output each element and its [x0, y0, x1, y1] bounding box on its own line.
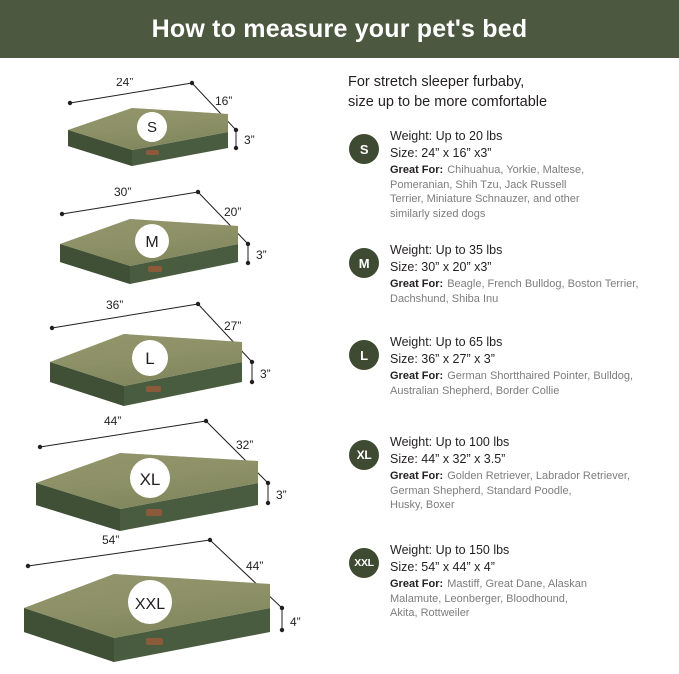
breed-line: Dachshund, Shiba Inu	[390, 292, 675, 307]
size-info-column: For stretch sleeper furbaby, size up to …	[340, 58, 679, 674]
size-badge-s: S	[349, 134, 379, 164]
brand-tag	[146, 638, 163, 645]
size-value: 30” x 20” x3”	[421, 260, 491, 274]
weight-label: Weight:	[390, 243, 432, 257]
dim-dot	[234, 146, 238, 150]
dim-dot	[26, 564, 30, 568]
dim-dot	[280, 628, 284, 632]
size-label: Size:	[390, 352, 418, 366]
size-badge-l: L	[349, 340, 379, 370]
weight-line: Weight: Up to 35 lbs	[390, 242, 675, 259]
dim-dot	[68, 101, 72, 105]
brand-tag	[146, 509, 162, 516]
great-for-line: Great For: Golden Retriever, Labrador Re…	[390, 469, 675, 513]
dim-label-width: 36”	[106, 298, 123, 312]
weight-line: Weight: Up to 20 lbs	[390, 128, 675, 145]
dim-label-height: 3”	[244, 133, 255, 147]
brand-tag	[148, 266, 162, 272]
size-line: Size: 36” x 27” x 3”	[390, 351, 675, 368]
size-label: Size:	[390, 452, 418, 466]
dim-dot	[246, 261, 250, 265]
bed-diagram-column: 24” 16” 3” S	[0, 58, 340, 674]
breed-line: Akita, Rottweiler	[390, 606, 675, 621]
bed-diagram-s: 24” 16” 3” S	[60, 78, 290, 173]
dim-dot	[266, 501, 270, 505]
weight-value: Up to 20 lbs	[436, 129, 503, 143]
great-for-line: Great For: German Shortthaired Pointer, …	[390, 369, 675, 398]
breed-line: Pomeranian, Shih Tzu, Jack Russell	[390, 178, 675, 193]
dim-label-width: 30”	[114, 186, 131, 199]
great-for-line: Great For: Beagle, French Bulldog, Bosto…	[390, 277, 675, 306]
brand-tag	[146, 386, 161, 392]
size-circle-letter: XL	[140, 470, 161, 489]
size-circle-letter: M	[145, 234, 158, 251]
dim-dot	[38, 445, 42, 449]
weight-value: Up to 65 lbs	[436, 335, 503, 349]
size-entry-text: Weight: Up to 35 lbs Size: 30” x 20” x3”…	[390, 242, 675, 306]
size-circle-letter: S	[147, 119, 157, 136]
dim-label-height: 3”	[256, 248, 267, 262]
size-line: Size: 44” x 32” x 3.5”	[390, 451, 675, 468]
breed-line: Terrier, Miniature Schnauzer, and other	[390, 192, 675, 207]
intro-line-1: For stretch sleeper furbaby,	[348, 72, 668, 92]
weight-value: Up to 35 lbs	[436, 243, 503, 257]
intro-line-2: size up to be more comfortable	[348, 92, 668, 112]
page-title: How to measure your pet's bed	[152, 15, 528, 44]
dim-label-height: 3”	[276, 488, 287, 502]
size-circle-letter: XXL	[135, 596, 165, 613]
great-for-label: Great For:	[390, 277, 443, 292]
content-area: 24” 16” 3” S	[0, 58, 679, 674]
bed-illustration-xxl: 54” 44” 4” XXL	[14, 530, 326, 670]
dim-label-height: 3”	[260, 367, 271, 381]
size-label: Size:	[390, 560, 418, 574]
size-label: Size:	[390, 146, 418, 160]
bed-diagram-m: 30” 20” 3” M	[52, 186, 297, 291]
size-badge-m: M	[349, 248, 379, 278]
dim-dot	[50, 326, 54, 330]
great-for-line: Great For: Chihuahua, Yorkie, Maltese, P…	[390, 163, 675, 221]
weight-label: Weight:	[390, 129, 432, 143]
dim-label-depth: 20”	[224, 205, 241, 219]
size-circle-letter: L	[145, 349, 154, 368]
bed-diagram-xl: 44” 32” 3” XL	[28, 413, 313, 538]
size-value: 44” x 32” x 3.5”	[421, 452, 505, 466]
weight-line: Weight: Up to 65 lbs	[390, 334, 675, 351]
weight-line: Weight: Up to 150 lbs	[390, 542, 675, 559]
dim-label-depth: 44”	[246, 559, 263, 573]
size-label: Size:	[390, 260, 418, 274]
bed-illustration-m: 30” 20” 3” M	[52, 186, 297, 291]
dim-line-width	[52, 304, 198, 328]
breed-line: German Shepherd, Standard Poodle,	[390, 484, 675, 499]
dim-label-width: 44”	[104, 414, 121, 428]
dim-label-depth: 32”	[236, 438, 253, 452]
great-for-line: Great For: Mastiff, Great Dane, Alaskan …	[390, 577, 675, 621]
dim-label-depth: 27”	[224, 319, 241, 333]
size-entry-text: Weight: Up to 100 lbs Size: 44” x 32” x …	[390, 434, 675, 513]
bed-illustration-l: 36” 27” 3” L	[42, 298, 300, 413]
size-value: 36” x 27” x 3”	[421, 352, 495, 366]
bed-illustration-s: 24” 16” 3” S	[60, 78, 290, 173]
dim-label-width: 54”	[102, 533, 119, 547]
dim-label-height: 4”	[290, 615, 301, 629]
dim-dot	[250, 380, 254, 384]
bed-illustration-xl: 44” 32” 3” XL	[28, 413, 313, 538]
size-badge-xxl: XXL	[349, 548, 379, 578]
size-line: Size: 30” x 20” x3”	[390, 259, 675, 276]
brand-tag	[146, 150, 159, 155]
size-entry-text: Weight: Up to 65 lbs Size: 36” x 27” x 3…	[390, 334, 675, 398]
weight-value: Up to 150 lbs	[436, 543, 510, 557]
breed-line: similarly sized dogs	[390, 207, 675, 222]
intro-text: For stretch sleeper furbaby, size up to …	[348, 72, 668, 112]
size-badge-xl: XL	[349, 440, 379, 470]
great-for-label: Great For:	[390, 163, 443, 178]
great-for-label: Great For:	[390, 577, 443, 592]
weight-value: Up to 100 lbs	[436, 435, 510, 449]
dim-dot	[60, 212, 64, 216]
breed-line: Husky, Boxer	[390, 498, 675, 513]
dim-label-width: 24”	[116, 78, 133, 89]
size-line: Size: 24” x 16” x3”	[390, 145, 675, 162]
size-value: 54” x 44” x 4”	[421, 560, 495, 574]
breed-line: Malamute, Leonberger, Bloodhound,	[390, 592, 675, 607]
great-for-label: Great For:	[390, 469, 443, 484]
size-entry-text: Weight: Up to 150 lbs Size: 54” x 44” x …	[390, 542, 675, 621]
breed-line: Australian Shepherd, Border Collie	[390, 384, 675, 399]
page-header: How to measure your pet's bed	[0, 0, 679, 58]
bed-diagram-xxl: 54” 44” 4” XXL	[14, 530, 326, 670]
great-for-label: Great For:	[390, 369, 443, 384]
dim-line-width	[40, 421, 206, 447]
bed-diagram-l: 36” 27” 3” L	[42, 298, 300, 413]
dim-label-depth: 16”	[215, 94, 232, 108]
weight-line: Weight: Up to 100 lbs	[390, 434, 675, 451]
weight-label: Weight:	[390, 335, 432, 349]
weight-label: Weight:	[390, 435, 432, 449]
weight-label: Weight:	[390, 543, 432, 557]
size-value: 24” x 16” x3”	[421, 146, 491, 160]
size-entry-text: Weight: Up to 20 lbs Size: 24” x 16” x3”…	[390, 128, 675, 221]
size-line: Size: 54” x 44” x 4”	[390, 559, 675, 576]
